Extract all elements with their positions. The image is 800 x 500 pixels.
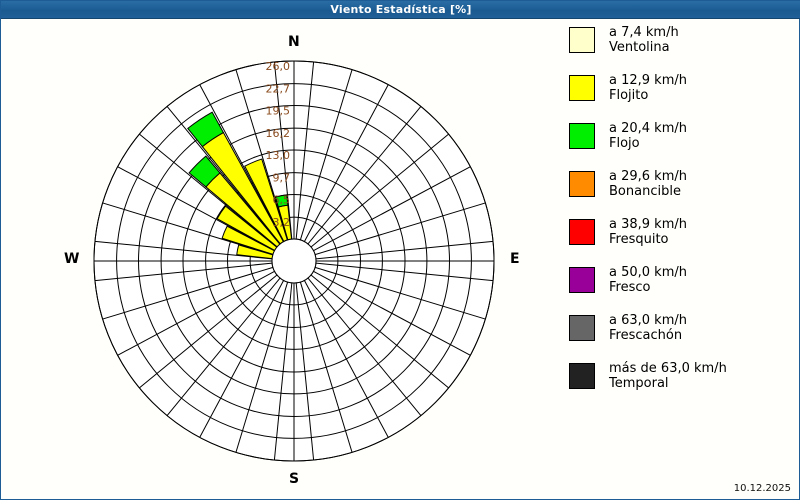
compass-label-south: S: [289, 471, 299, 487]
legend-item[interactable]: a 29,6 km/hBonancible: [569, 169, 797, 207]
legend-label: a 63,0 km/hFrescachón: [609, 313, 687, 343]
legend-color-swatch: [569, 315, 595, 341]
legend-item[interactable]: a 38,9 km/hFresquito: [569, 217, 797, 255]
legend-label: a 20,4 km/hFlojo: [609, 121, 687, 151]
legend-color-swatch: [569, 267, 595, 293]
legend-label: a 38,9 km/hFresquito: [609, 217, 687, 247]
legend-item[interactable]: a 63,0 km/hFrescachón: [569, 313, 797, 351]
wind-rose-plot: 3,26,59,713,016,219,522,726,0 N E S W: [2, 20, 562, 499]
legend-item[interactable]: más de 63,0 km/hTemporal: [569, 361, 797, 399]
legend-category-label: Fresco: [609, 280, 687, 295]
legend-item[interactable]: a 12,9 km/hFlojito: [569, 73, 797, 111]
legend-color-swatch: [569, 171, 595, 197]
legend-speed-label: más de 63,0 km/h: [609, 361, 727, 376]
legend-color-swatch: [569, 27, 595, 53]
radial-axis-tick-label: 22,7: [266, 83, 291, 96]
legend-speed-label: a 63,0 km/h: [609, 313, 687, 328]
legend-category-label: Bonancible: [609, 184, 687, 199]
radial-axis-tick-label: 26,0: [266, 60, 291, 73]
legend-label: a 12,9 km/hFlojito: [609, 73, 687, 103]
legend-speed-label: a 20,4 km/h: [609, 121, 687, 136]
compass-label-west: W: [64, 251, 79, 267]
window-title: Viento Estadística [%]: [330, 3, 471, 16]
legend: a 7,4 km/hVentolinaa 12,9 km/hFlojitoa 2…: [569, 25, 797, 425]
window-titlebar: Viento Estadística [%]: [1, 1, 800, 19]
radial-axis-tick-label: 16,2: [266, 127, 291, 140]
legend-category-label: Frescachón: [609, 328, 687, 343]
compass-label-north: N: [288, 34, 300, 50]
legend-category-label: Flojo: [609, 136, 687, 151]
legend-color-swatch: [569, 363, 595, 389]
legend-item[interactable]: a 7,4 km/hVentolina: [569, 25, 797, 63]
legend-item[interactable]: a 50,0 km/hFresco: [569, 265, 797, 303]
legend-color-swatch: [569, 219, 595, 245]
legend-label: a 7,4 km/hVentolina: [609, 25, 679, 55]
legend-label: a 50,0 km/hFresco: [609, 265, 687, 295]
date-stamp: 10.12.2025: [734, 483, 791, 494]
radial-axis-tick-label: 9,7: [273, 172, 291, 185]
compass-label-east: E: [510, 251, 520, 267]
radial-axis-tick-label: 13,0: [266, 149, 291, 162]
legend-category-label: Flojito: [609, 88, 687, 103]
wind-rose-window: Viento Estadística [%] 3,26,59,713,016,2…: [0, 0, 800, 500]
legend-speed-label: a 12,9 km/h: [609, 73, 687, 88]
wind-rose-svg: 3,26,59,713,016,219,522,726,0: [2, 20, 562, 499]
legend-category-label: Temporal: [609, 376, 727, 391]
legend-category-label: Ventolina: [609, 40, 679, 55]
legend-speed-label: a 50,0 km/h: [609, 265, 687, 280]
legend-label: a 29,6 km/hBonancible: [609, 169, 687, 199]
radial-axis-tick-label: 19,5: [266, 105, 291, 118]
legend-speed-label: a 29,6 km/h: [609, 169, 687, 184]
legend-category-label: Fresquito: [609, 232, 687, 247]
radial-axis-tick-label: 6,5: [273, 194, 291, 207]
legend-speed-label: a 38,9 km/h: [609, 217, 687, 232]
legend-item[interactable]: a 20,4 km/hFlojo: [569, 121, 797, 159]
legend-color-swatch: [569, 75, 595, 101]
legend-speed-label: a 7,4 km/h: [609, 25, 679, 40]
legend-label: más de 63,0 km/hTemporal: [609, 361, 727, 391]
rose-center-hole-top: [272, 239, 316, 283]
legend-color-swatch: [569, 123, 595, 149]
radial-axis-tick-label: 3,2: [273, 216, 291, 229]
